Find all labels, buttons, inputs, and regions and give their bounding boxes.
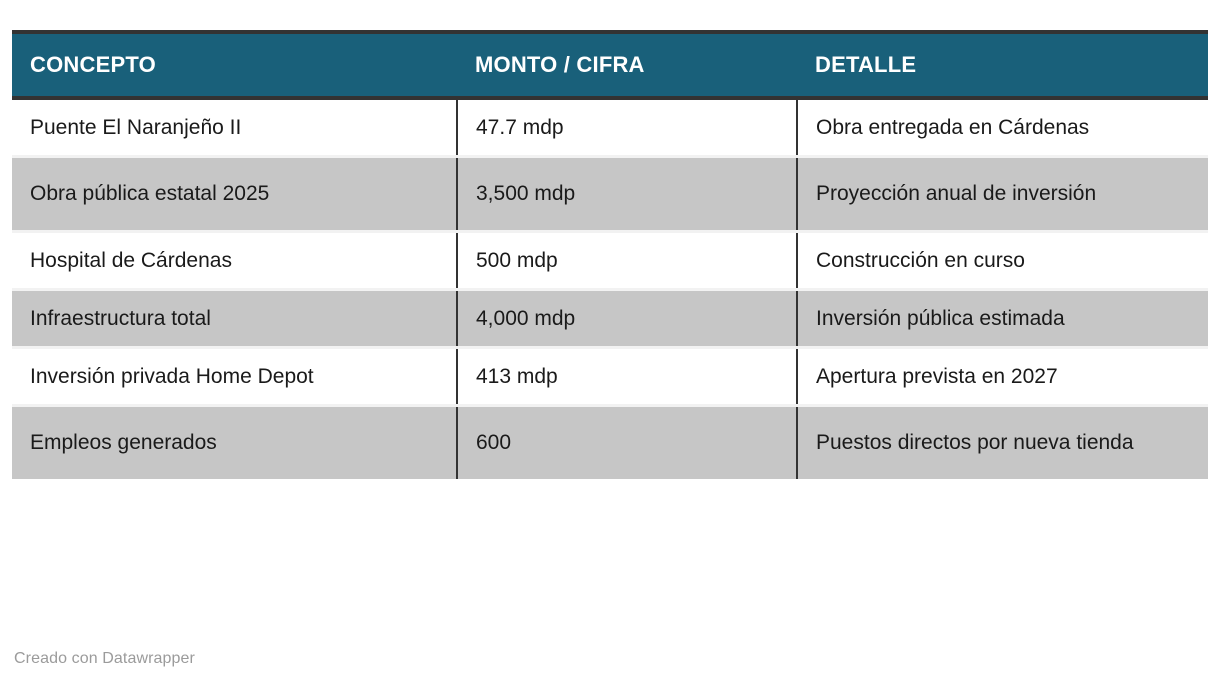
cell-detalle: Puestos directos por nueva tienda — [797, 406, 1208, 479]
table-row: Hospital de Cárdenas 500 mdp Construcció… — [12, 231, 1208, 289]
cell-concepto: Puente El Naranjeño II — [12, 98, 457, 157]
column-header-detalle[interactable]: DETALLE — [797, 32, 1208, 98]
cell-monto: 600 — [457, 406, 797, 479]
cell-detalle: Proyección anual de inversión — [797, 157, 1208, 231]
cell-monto: 500 mdp — [457, 231, 797, 289]
cell-concepto: Infraestructura total — [12, 289, 457, 347]
cell-detalle: Construcción en curso — [797, 231, 1208, 289]
column-header-concepto[interactable]: CONCEPTO — [12, 32, 457, 98]
table-row: Obra pública estatal 2025 3,500 mdp Proy… — [12, 157, 1208, 231]
cell-monto: 47.7 mdp — [457, 98, 797, 157]
cell-detalle: Apertura prevista en 2027 — [797, 348, 1208, 406]
datawrapper-credit[interactable]: Creado con Datawrapper — [14, 650, 195, 668]
cell-detalle: Inversión pública estimada — [797, 289, 1208, 347]
cell-monto: 4,000 mdp — [457, 289, 797, 347]
table-header: CONCEPTO MONTO / CIFRA DETALLE — [12, 32, 1208, 98]
cell-monto: 413 mdp — [457, 348, 797, 406]
table-row: Infraestructura total 4,000 mdp Inversió… — [12, 289, 1208, 347]
column-header-monto[interactable]: MONTO / CIFRA — [457, 32, 797, 98]
cell-concepto: Hospital de Cárdenas — [12, 231, 457, 289]
data-table: CONCEPTO MONTO / CIFRA DETALLE Puente El… — [12, 30, 1208, 479]
table-row: Puente El Naranjeño II 47.7 mdp Obra ent… — [12, 98, 1208, 157]
cell-concepto: Obra pública estatal 2025 — [12, 157, 457, 231]
table-row: Inversión privada Home Depot 413 mdp Ape… — [12, 348, 1208, 406]
table-header-row: CONCEPTO MONTO / CIFRA DETALLE — [12, 32, 1208, 98]
cell-concepto: Empleos generados — [12, 406, 457, 479]
table-page: CONCEPTO MONTO / CIFRA DETALLE Puente El… — [0, 0, 1220, 688]
table-row: Empleos generados 600 Puestos directos p… — [12, 406, 1208, 479]
cell-monto: 3,500 mdp — [457, 157, 797, 231]
table-body: Puente El Naranjeño II 47.7 mdp Obra ent… — [12, 98, 1208, 479]
cell-concepto: Inversión privada Home Depot — [12, 348, 457, 406]
data-table-container: CONCEPTO MONTO / CIFRA DETALLE Puente El… — [12, 30, 1208, 479]
cell-detalle: Obra entregada en Cárdenas — [797, 98, 1208, 157]
